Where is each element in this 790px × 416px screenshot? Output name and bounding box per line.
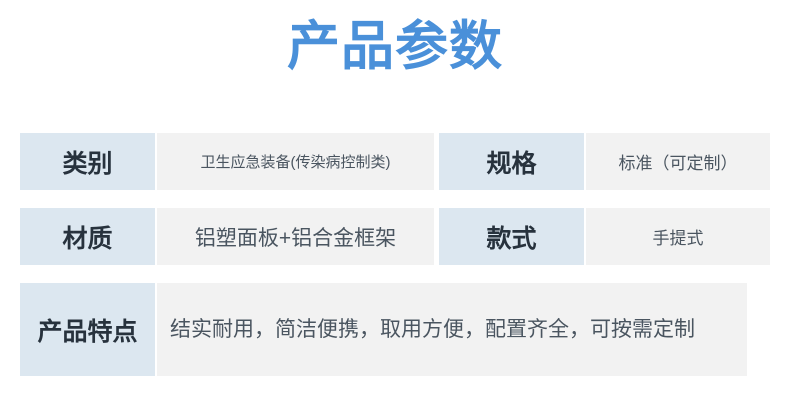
page-title: 产品参数 [0,8,790,86]
spec-value-specification: 标准（可定制） [586,133,770,190]
table-row: 产品特点 结实耐用，简洁便携，取用方便，配置齐全，可按需定制 [20,283,770,376]
spec-value-style: 手提式 [586,208,770,265]
spec-value-features-text: 结实耐用，简洁便携，取用方便，配置齐全，可按需定制 [170,314,695,346]
spec-label-specification: 规格 [439,133,584,190]
spec-value-features: 结实耐用，简洁便携，取用方便，配置齐全，可按需定制 [157,283,747,376]
spec-value-category: 卫生应急装备(传染病控制类) [157,133,434,190]
table-row: 材质 铝塑面板+铝合金框架 款式 手提式 [20,208,770,265]
spec-label-category: 类别 [20,133,155,190]
spec-label-features: 产品特点 [20,283,155,376]
product-spec-page: 产品参数 类别 卫生应急装备(传染病控制类) 规格 标准（可定制） 材质 铝塑面… [0,0,790,416]
spec-table: 类别 卫生应急装备(传染病控制类) 规格 标准（可定制） 材质 铝塑面板+铝合金… [20,133,770,376]
spec-label-style: 款式 [439,208,584,265]
spec-label-material: 材质 [20,208,155,265]
table-row: 类别 卫生应急装备(传染病控制类) 规格 标准（可定制） [20,133,770,190]
spec-value-material: 铝塑面板+铝合金框架 [157,208,434,265]
